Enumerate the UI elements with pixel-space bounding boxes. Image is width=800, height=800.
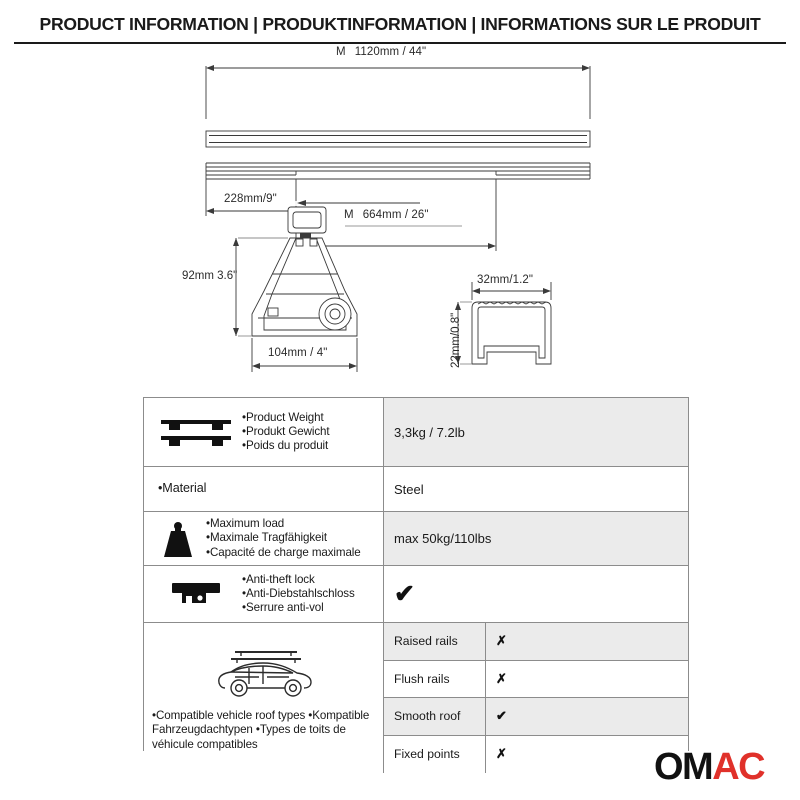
roof-type-name: Fixed points <box>384 736 486 774</box>
spec-value-cell: 3,3kg / 7.2lb <box>384 398 688 466</box>
roof-type-value: ✗ <box>486 623 688 660</box>
roof-type-row: Flush rails ✗ <box>384 661 688 699</box>
dim-foot-width: 104mm / 4" <box>268 347 327 359</box>
spec-label-cell: •Product Weight •Produkt Gewicht •Poids … <box>144 398 384 466</box>
table-row-roof-types: •Compatible vehicle roof types •Kompatib… <box>144 623 688 773</box>
spec-label-cell: •Maximum load •Maximale Tragfähigkeit •C… <box>144 512 384 565</box>
page-title: PRODUCT INFORMATION | PRODUKTINFORMATION… <box>0 14 800 35</box>
roof-types-label-cell: •Compatible vehicle roof types •Kompatib… <box>144 623 384 773</box>
dim-foot-spacing: M664mm / 26" <box>344 209 429 221</box>
table-row: •Material Steel <box>144 467 688 512</box>
roof-type-name: Raised rails <box>384 623 486 660</box>
header-divider <box>14 42 786 44</box>
roof-type-value: ✔ <box>486 698 688 735</box>
specification-table: •Product Weight •Produkt Gewicht •Poids … <box>143 397 689 751</box>
spec-label-text: •Product Weight •Produkt Gewicht •Poids … <box>242 411 379 453</box>
omac-logo: OM AC <box>654 748 764 786</box>
logo-text-red: AC <box>712 748 764 786</box>
roof-type-row: Smooth roof ✔ <box>384 698 688 736</box>
table-row: •Anti-theft lock •Anti-Diebstahlschloss … <box>144 566 688 623</box>
table-row: •Maximum load •Maximale Tragfähigkeit •C… <box>144 512 688 566</box>
spec-label-text: •Material <box>150 481 379 496</box>
dim-end-offset: 228mm/9" <box>224 193 277 205</box>
spec-label-text: •Maximum load •Maximale Tragfähigkeit •C… <box>206 517 379 559</box>
roof-type-name: Flush rails <box>384 661 486 698</box>
weight-icon <box>150 519 206 559</box>
car-with-rack-icon <box>205 644 325 705</box>
product-information-page: PRODUCT INFORMATION | PRODUKTINFORMATION… <box>0 0 800 800</box>
dim-profile-width: 32mm/1.2" <box>477 274 533 286</box>
dim-bar-length: M1120mm / 44" <box>336 46 426 58</box>
spec-value-cell: Steel <box>384 467 688 511</box>
spec-label-text: •Anti-theft lock •Anti-Diebstahlschloss … <box>242 573 379 615</box>
lock-foot-icon <box>150 577 242 611</box>
checkmark-icon: ✔ <box>394 582 415 607</box>
roof-type-row: Raised rails ✗ <box>384 623 688 661</box>
technical-drawing: M1120mm / 44" 228mm/9" M664mm / 26" 92mm… <box>0 46 800 391</box>
spec-value-cell: ✔ <box>384 566 688 622</box>
logo-text-dark: OM <box>654 748 712 786</box>
dim-foot-height: 92mm 3.6" <box>182 270 230 284</box>
dim-profile-height: 22mm/0.8" <box>450 313 462 368</box>
roof-types-label-text: •Compatible vehicle roof types •Kompatib… <box>150 709 379 752</box>
spec-label-cell: •Material <box>144 467 384 511</box>
roof-type-value: ✗ <box>486 661 688 698</box>
spec-value-cell: max 50kg/110lbs <box>384 512 688 565</box>
table-row: •Product Weight •Produkt Gewicht •Poids … <box>144 398 688 467</box>
crossbars-icon <box>150 412 242 452</box>
roof-types-list: Raised rails ✗ Flush rails ✗ Smooth roof… <box>384 623 688 773</box>
roof-type-row: Fixed points ✗ <box>384 736 688 774</box>
spec-label-cell: •Anti-theft lock •Anti-Diebstahlschloss … <box>144 566 384 622</box>
roof-type-name: Smooth roof <box>384 698 486 735</box>
